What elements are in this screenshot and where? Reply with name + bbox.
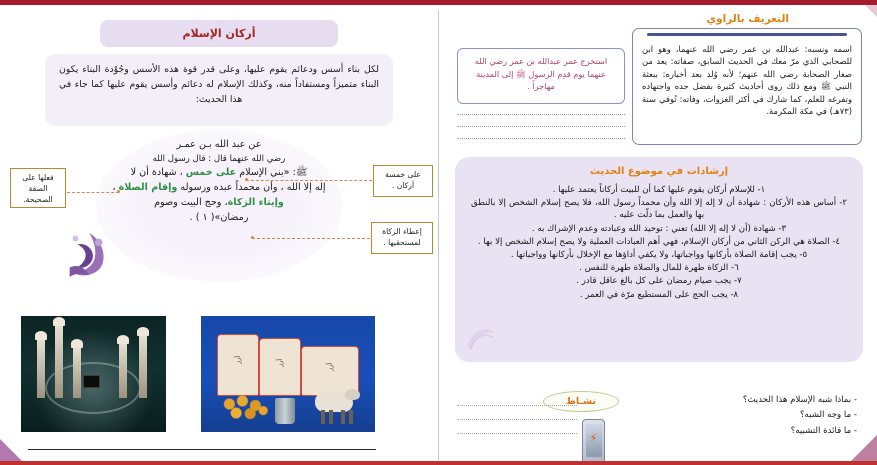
guidance-heading: إرشادات في موضوع الحديث: [471, 166, 847, 177]
metal-bucket: [275, 398, 295, 424]
activity-answer-line[interactable]: [457, 405, 577, 406]
phone-bolt-glyph: ⚡: [589, 432, 597, 444]
zakat-sacks-dates-sheep-photo: أرز أرز أرز: [200, 315, 376, 433]
guidance-item: ٣- شهادة (أن لا إله إلا الله) تعني : توح…: [471, 223, 847, 235]
sheep-leg: [341, 410, 345, 424]
guidance-item: ٥- يجب إقامة الصلاة بأركانها وواجباتها، …: [471, 249, 847, 261]
footnote-rule: [28, 449, 376, 450]
page-title: أركان الإسلام: [100, 20, 338, 47]
guidance-panel: إرشادات في موضوع الحديث ١- للإسلام أركان…: [455, 157, 863, 362]
activity-answer-line[interactable]: [457, 419, 577, 420]
activity-answer-line[interactable]: [457, 433, 577, 434]
corner-ornament-bottom-right: [851, 435, 877, 461]
kaaba-shape: [83, 375, 100, 388]
sheep-head: [345, 389, 360, 400]
narrator-note-box: استخرج عمر عبدالله بن عمر رضي الله عنهما…: [457, 48, 625, 104]
left-page: التعريف بالراوي اسمه ونسبه: عبدالله بن ع…: [439, 10, 877, 462]
sack-label: أرز: [326, 363, 334, 371]
callout-zakat-give: إعطاء الزكاة لمستحقيها .: [371, 222, 433, 254]
callout-five-pillars: على خمسة أركان .: [373, 165, 433, 197]
page-gutter-divider: [438, 10, 439, 460]
callout-anchor-dot: [117, 190, 120, 193]
hadith-line: ﷺ: «بني الإسلام على خمس ، شهادة أن لا: [85, 166, 353, 181]
activity-question: - بماذا شبه الإسلام هذا الحديث؟: [625, 395, 857, 405]
callout-anchor-dot: [245, 178, 248, 181]
hadith-line: رمضان»( ١ ) .: [85, 211, 353, 226]
guidance-item: ٢- أساس هذه الأركان : شهادة أن لا إله إل…: [471, 197, 847, 221]
guidance-list: ١- للإسلام أركان يقوم عليها كما أن للبيت…: [471, 184, 847, 301]
grain-sack: أرز: [217, 334, 259, 396]
guidance-item: ٨- يجب الحج على المستطيع مرّة في العمر .: [471, 289, 847, 301]
sack-label: أرز: [276, 358, 284, 366]
floral-ornament-icon: [60, 225, 118, 283]
callout-leader-line: [67, 192, 119, 193]
dates-pile: [219, 392, 271, 422]
intro-text: لكل بناء أسس ودعائم يقوم عليها، وعلى قدر…: [59, 62, 379, 107]
narrator-note-text: استخرج عمر عبدالله بن عمر رضي الله عنهما…: [466, 55, 616, 93]
sack-label: أرز: [234, 356, 242, 364]
answer-ruled-line[interactable]: [457, 138, 625, 139]
sheep-leg: [349, 410, 353, 424]
mobile-phone-icon: ⚡: [582, 419, 605, 465]
minaret: [73, 346, 81, 398]
minaret: [119, 342, 127, 398]
guidance-item: ٧- يجب صيام رمضان على كل بالغ عاقل قادر …: [471, 275, 847, 287]
guidance-item: ١- للإسلام أركان يقوم عليها كما أن للبيت…: [471, 184, 847, 196]
answer-ruled-line[interactable]: [457, 126, 625, 127]
answer-ruled-line[interactable]: [457, 114, 625, 115]
guidance-item: ٦- الزكاة طهرة للمال والصلاة طهرة للنفس …: [471, 262, 847, 274]
grain-sack: أرز: [259, 338, 301, 396]
hadith-highlight: على خمس: [186, 167, 236, 178]
sheep-figure: [309, 388, 361, 424]
sheep-leg: [329, 410, 333, 424]
textbook-spread: التعريف بالراوي اسمه ونسبه: عبدالله بن ع…: [0, 0, 877, 465]
activity-question: - ما فائدة التشبيه؟: [625, 426, 857, 436]
minaret: [139, 334, 147, 398]
sheep-leg: [321, 410, 325, 424]
corner-ornament-bottom-left: [0, 439, 22, 461]
callout-correct-way: فعلها على الصفة الصحيحة.: [10, 168, 66, 208]
decorative-swirl-icon: [465, 322, 499, 352]
section-heading-rawi: التعريف بالراوي: [707, 13, 790, 25]
hadith-line: وإيتاء الزكاة، وحج البيت وصوم: [85, 196, 353, 211]
right-page: أركان الإسلام لكل بناء أسس ودعائم يقوم ع…: [0, 10, 438, 462]
hadith-line: إله إلا الله ، وأن محمداً عبده ورسوله وإ…: [85, 181, 353, 196]
hadith-highlight: وإيتاء الزكاة: [228, 197, 284, 208]
narrator-biography-box: اسمه ونسبه: عبدالله بن عمر رضي الله عنهم…: [632, 28, 862, 145]
activity-question-list: - بماذا شبه الإسلام هذا الحديث؟ - ما وجه…: [625, 395, 857, 441]
intro-card: لكل بناء أسس ودعائم يقوم عليها، وعلى قدر…: [45, 54, 393, 126]
mecca-grand-mosque-photo: [20, 315, 167, 433]
minaret: [55, 324, 63, 398]
callout-leader-line: [252, 238, 370, 239]
narrator-biography-text: اسمه ونسبه: عبدالله بن عمر رضي الله عنهم…: [642, 43, 852, 118]
activity-question: - ما وجه الشبه؟: [625, 410, 857, 420]
activity-badge: نشـاط: [543, 391, 619, 412]
minaret: [37, 338, 45, 398]
callout-leader-line: [246, 180, 372, 181]
hadith-highlight: وإقام الصلاة: [119, 182, 178, 193]
corner-ornament-top-right: [865, 5, 877, 17]
callout-anchor-dot: [251, 236, 254, 239]
hadith-line: عن عبد الله بـن عمـر: [85, 138, 353, 153]
hadith-line: رضي الله عنهما قال : قال رسول الله: [85, 153, 353, 166]
hadith-text: عن عبد الله بـن عمـر رضي الله عنهما قال …: [85, 138, 353, 226]
activity-section: نشـاط - بماذا شبه الإسلام هذا الحديث؟ - …: [457, 391, 857, 465]
guidance-item: ٤- الصلاة هي الركن الثاني من أركان الإسل…: [471, 236, 847, 248]
